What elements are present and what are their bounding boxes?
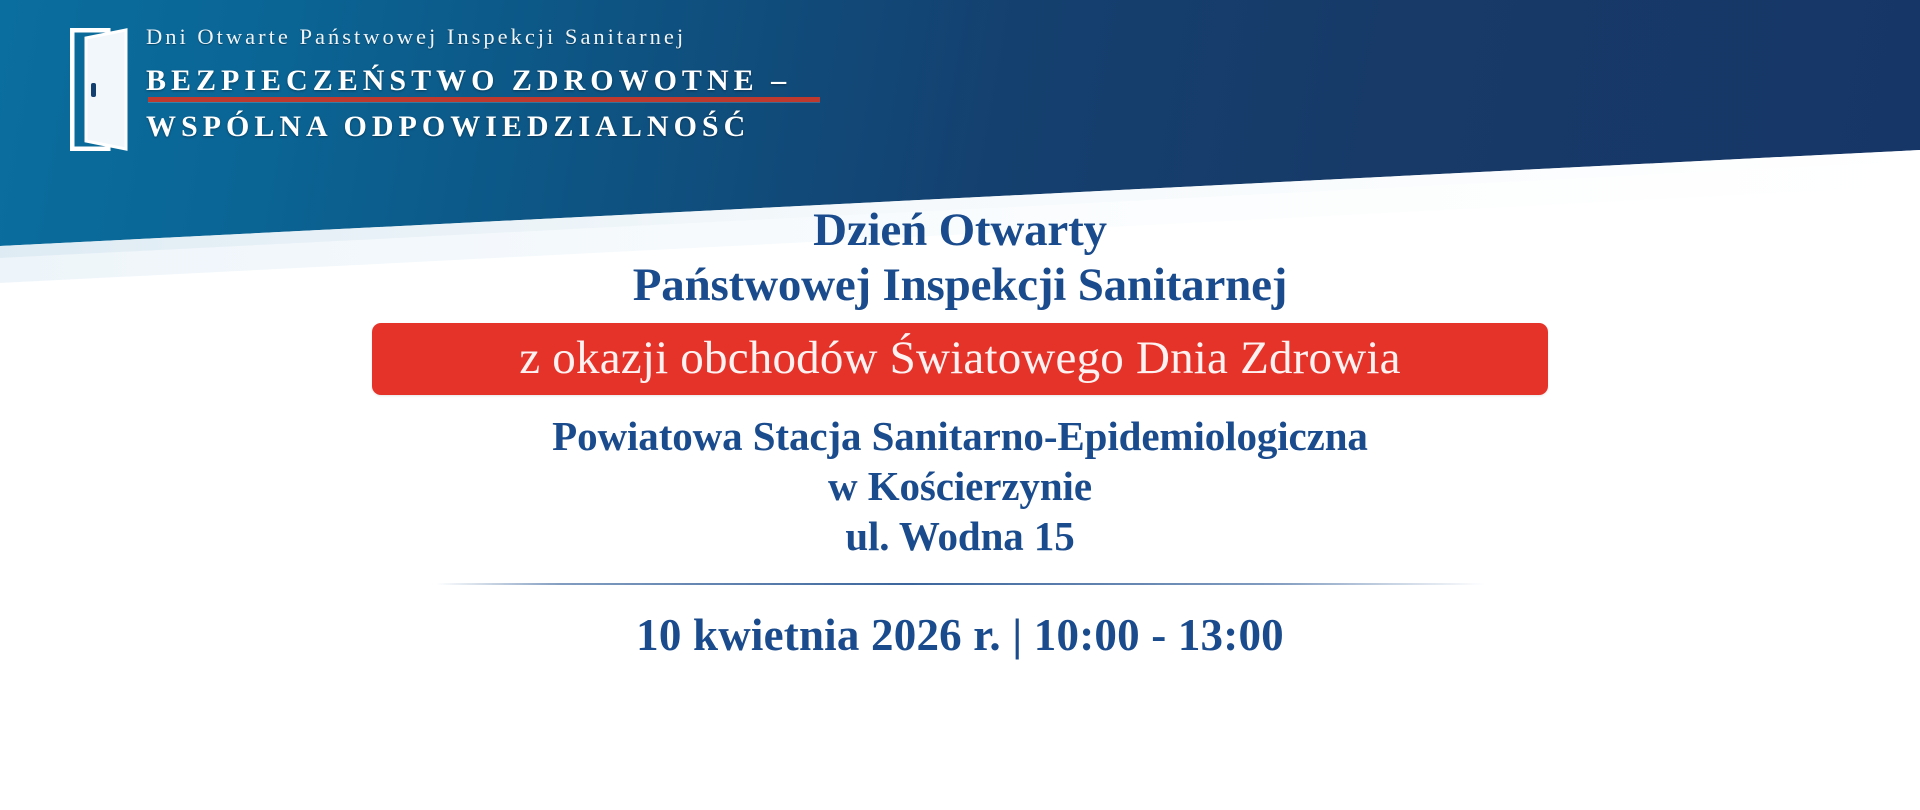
logo-slogan-line2: WSPÓLNA ODPOWIEDZIALNOŚĆ: [146, 111, 791, 143]
logo-slogan-line1-wrap: BEZPIECZEŃSTWO ZDROWOTNE –: [146, 65, 791, 97]
occasion-banner-text: z okazji obchodów Światowego Dnia Zdrowi…: [519, 335, 1400, 382]
event-poster: Dni Otwarte Państwowej Inspekcji Sanitar…: [0, 0, 1920, 810]
logo-slogan-line1: BEZPIECZEŃSTWO ZDROWOTNE –: [146, 64, 791, 97]
logo-tagline: Dni Otwarte Państwowej Inspekcji Sanitar…: [146, 26, 791, 49]
venue-address: Powiatowa Stacja Sanitarno-Epidemiologic…: [0, 411, 1920, 561]
venue-name: Powiatowa Stacja Sanitarno-Epidemiologic…: [0, 411, 1920, 461]
occasion-banner: z okazji obchodów Światowego Dnia Zdrowi…: [372, 323, 1548, 395]
open-door-icon: [70, 28, 128, 151]
event-title-line-1: Dzień Otwarty: [0, 203, 1920, 258]
logo-text-stack: Dni Otwarte Państwowej Inspekcji Sanitar…: [146, 20, 791, 143]
event-title-line-2: Państwowej Inspekcji Sanitarnej: [0, 258, 1920, 313]
venue-street: ul. Wodna 15: [0, 511, 1920, 561]
venue-city: w Kościerzynie: [0, 461, 1920, 511]
poster-body: Dzień Otwarty Państwowej Inspekcji Sanit…: [0, 185, 1920, 810]
section-divider: [436, 583, 1484, 585]
event-title: Dzień Otwarty Państwowej Inspekcji Sanit…: [0, 203, 1920, 313]
logo-lockup: Dni Otwarte Państwowej Inspekcji Sanitar…: [70, 20, 791, 151]
event-datetime: 10 kwietnia 2026 r. | 10:00 - 13:00: [0, 613, 1920, 658]
logo-red-underline: [148, 97, 820, 102]
